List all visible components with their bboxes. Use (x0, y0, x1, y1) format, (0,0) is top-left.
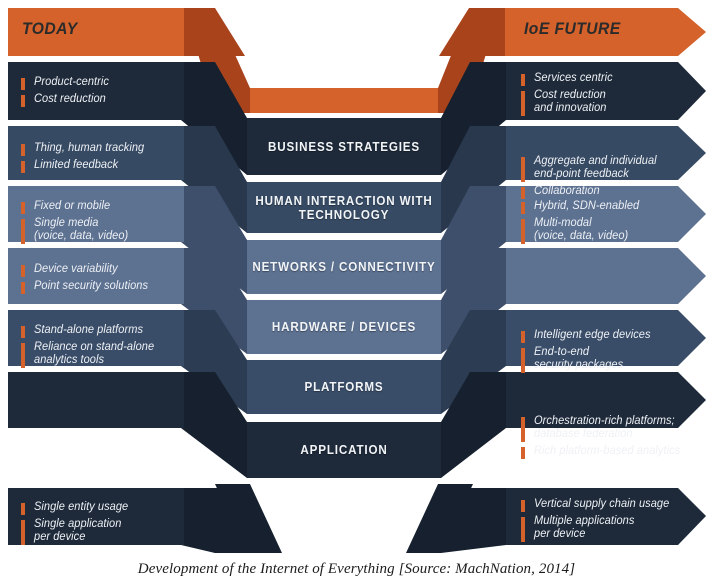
bullet-bar-icon (521, 331, 525, 343)
bullet-bar-icon (21, 95, 25, 107)
list-item: Hybrid, SDN-enabled (521, 200, 696, 214)
bullet-text: Device variability (34, 263, 118, 276)
bullet-text: Vertical supply chain usage (534, 498, 669, 511)
left-row-2-content: Thing, human tracking Limited feedback (21, 142, 181, 176)
bullet-text: Hybrid, SDN-enabled (534, 200, 639, 213)
center-label-platforms: PLATFORMS (251, 380, 437, 394)
bullet-bar-icon (21, 503, 25, 515)
left-row-3-content: Fixed or mobile Single media (voice, dat… (21, 200, 181, 247)
center-label-human-interaction: HUMAN INTERACTION WITH TECHNOLOGY (251, 194, 437, 222)
bullet-bar-icon (521, 417, 525, 442)
right-row-7-bevel (441, 488, 506, 553)
bullet-bar-icon (521, 157, 525, 182)
bullet-text: Aggregate and individual end-point feedb… (534, 155, 657, 180)
center-label-networks-connectivity: NETWORKS / CONNECTIVITY (251, 260, 437, 274)
list-item: Aggregate and individual end-point feedb… (521, 155, 696, 182)
bullet-text: End-to-end security packages (534, 346, 623, 371)
bullet-bar-icon (21, 161, 25, 173)
bullet-bar-icon (521, 187, 525, 199)
list-item: Thing, human tracking (21, 142, 181, 156)
bullet-bar-icon (521, 447, 525, 459)
bullet-text: Cost reduction (34, 93, 106, 106)
header-ioe-future: IoE FUTURE (524, 19, 621, 39)
list-item: Point security solutions (21, 280, 181, 294)
infographic-canvas: TODAY IoE FUTURE BUSINESS STRATEGIES HUM… (0, 0, 713, 585)
bullet-text: Single media (voice, data, video) (34, 217, 128, 242)
list-item: Single entity usage (21, 501, 181, 515)
bullet-bar-icon (521, 348, 525, 373)
list-item: Single application per device (21, 518, 181, 545)
right-row-3-content: Hybrid, SDN-enabled Multi-modal (voice, … (521, 200, 696, 247)
bullet-bar-icon (521, 91, 525, 116)
left-row-5-content: Stand-alone platforms Reliance on stand-… (21, 324, 181, 371)
list-item: Multi-modal (voice, data, video) (521, 217, 696, 244)
left-row-7-content: Single entity usage Single application p… (21, 501, 181, 548)
bullet-text: Limited feedback (34, 159, 118, 172)
list-item: Single media (voice, data, video) (21, 217, 181, 244)
center-label-application: APPLICATION (251, 443, 437, 457)
list-item: Rich platform-based analytics (521, 445, 701, 459)
bullet-text: Single application per device (34, 518, 121, 543)
bullet-bar-icon (21, 520, 25, 545)
list-item: Services centric (521, 72, 696, 86)
bullet-text: Multi-modal (voice, data, video) (534, 217, 628, 242)
bullet-bar-icon (521, 219, 525, 244)
bullet-bar-icon (21, 282, 25, 294)
list-item: Cost reduction and innovation (521, 89, 696, 116)
bullet-bar-icon (21, 343, 25, 368)
bullet-bar-icon (21, 78, 25, 90)
left-row-1-content: Product-centric Cost reduction (21, 76, 181, 110)
bullet-bar-icon (21, 144, 25, 156)
bullet-text: Services centric (534, 72, 613, 85)
center-label-hardware-devices: HARDWARE / DEVICES (251, 320, 437, 334)
header-today: TODAY (22, 19, 78, 39)
right-row-4-content: Intelligent edge devices End-to-end secu… (521, 329, 696, 376)
list-item: Reliance on stand-alone analytics tools (21, 341, 181, 368)
list-item: Collaboration (521, 185, 696, 199)
list-item: Product-centric (21, 76, 181, 90)
bullet-text: Intelligent edge devices (534, 329, 651, 342)
list-item: Fixed or mobile (21, 200, 181, 214)
list-item: Stand-alone platforms (21, 324, 181, 338)
list-item: Limited feedback (21, 159, 181, 173)
bullet-text: Single entity usage (34, 501, 128, 514)
bullet-text: Stand-alone platforms (34, 324, 143, 337)
right-row-7-content: Vertical supply chain usage Multiple app… (521, 498, 701, 545)
list-item: Device variability (21, 263, 181, 277)
bullet-text: Thing, human tracking (34, 142, 144, 155)
bullet-text: Multiple applications per device (534, 515, 634, 540)
list-item: End-to-end security packages (521, 346, 696, 373)
bullet-text: Fixed or mobile (34, 200, 110, 213)
list-item: Intelligent edge devices (521, 329, 696, 343)
bullet-bar-icon (21, 202, 25, 214)
bullet-bar-icon (521, 500, 525, 512)
bullet-bar-icon (521, 202, 525, 214)
bullet-text: Orchestration-rich platforms; database f… (534, 415, 675, 440)
right-row-1-content: Services centric Cost reduction and inno… (521, 72, 696, 119)
bullet-bar-icon (521, 74, 525, 86)
bullet-bar-icon (21, 265, 25, 277)
right-row-5-content: Orchestration-rich platforms; database f… (521, 415, 701, 462)
bullet-bar-icon (521, 517, 525, 542)
list-item: Vertical supply chain usage (521, 498, 701, 512)
list-item: Orchestration-rich platforms; database f… (521, 415, 701, 442)
list-item: Cost reduction (21, 93, 181, 107)
right-row-4-box (506, 248, 706, 304)
bullet-bar-icon (21, 326, 25, 338)
center-label-business-strategies: BUSINESS STRATEGIES (251, 140, 437, 154)
bullet-text: Product-centric (34, 76, 109, 89)
bullet-text: Rich platform-based analytics (534, 445, 680, 458)
bullet-text: Point security solutions (34, 280, 148, 293)
bullet-text: Collaboration (534, 185, 600, 198)
bullet-bar-icon (21, 219, 25, 244)
left-row-4-content: Device variability Point security soluti… (21, 263, 181, 297)
bullet-text: Cost reduction and innovation (534, 89, 606, 114)
left-row-6-box (8, 372, 184, 428)
figure-caption: Development of the Internet of Everythin… (0, 561, 713, 578)
bullet-text: Reliance on stand-alone analytics tools (34, 341, 154, 366)
list-item: Multiple applications per device (521, 515, 701, 542)
orange-funnel-bottom-bar (250, 88, 438, 113)
right-row-2-content: Aggregate and individual end-point feedb… (521, 155, 696, 202)
